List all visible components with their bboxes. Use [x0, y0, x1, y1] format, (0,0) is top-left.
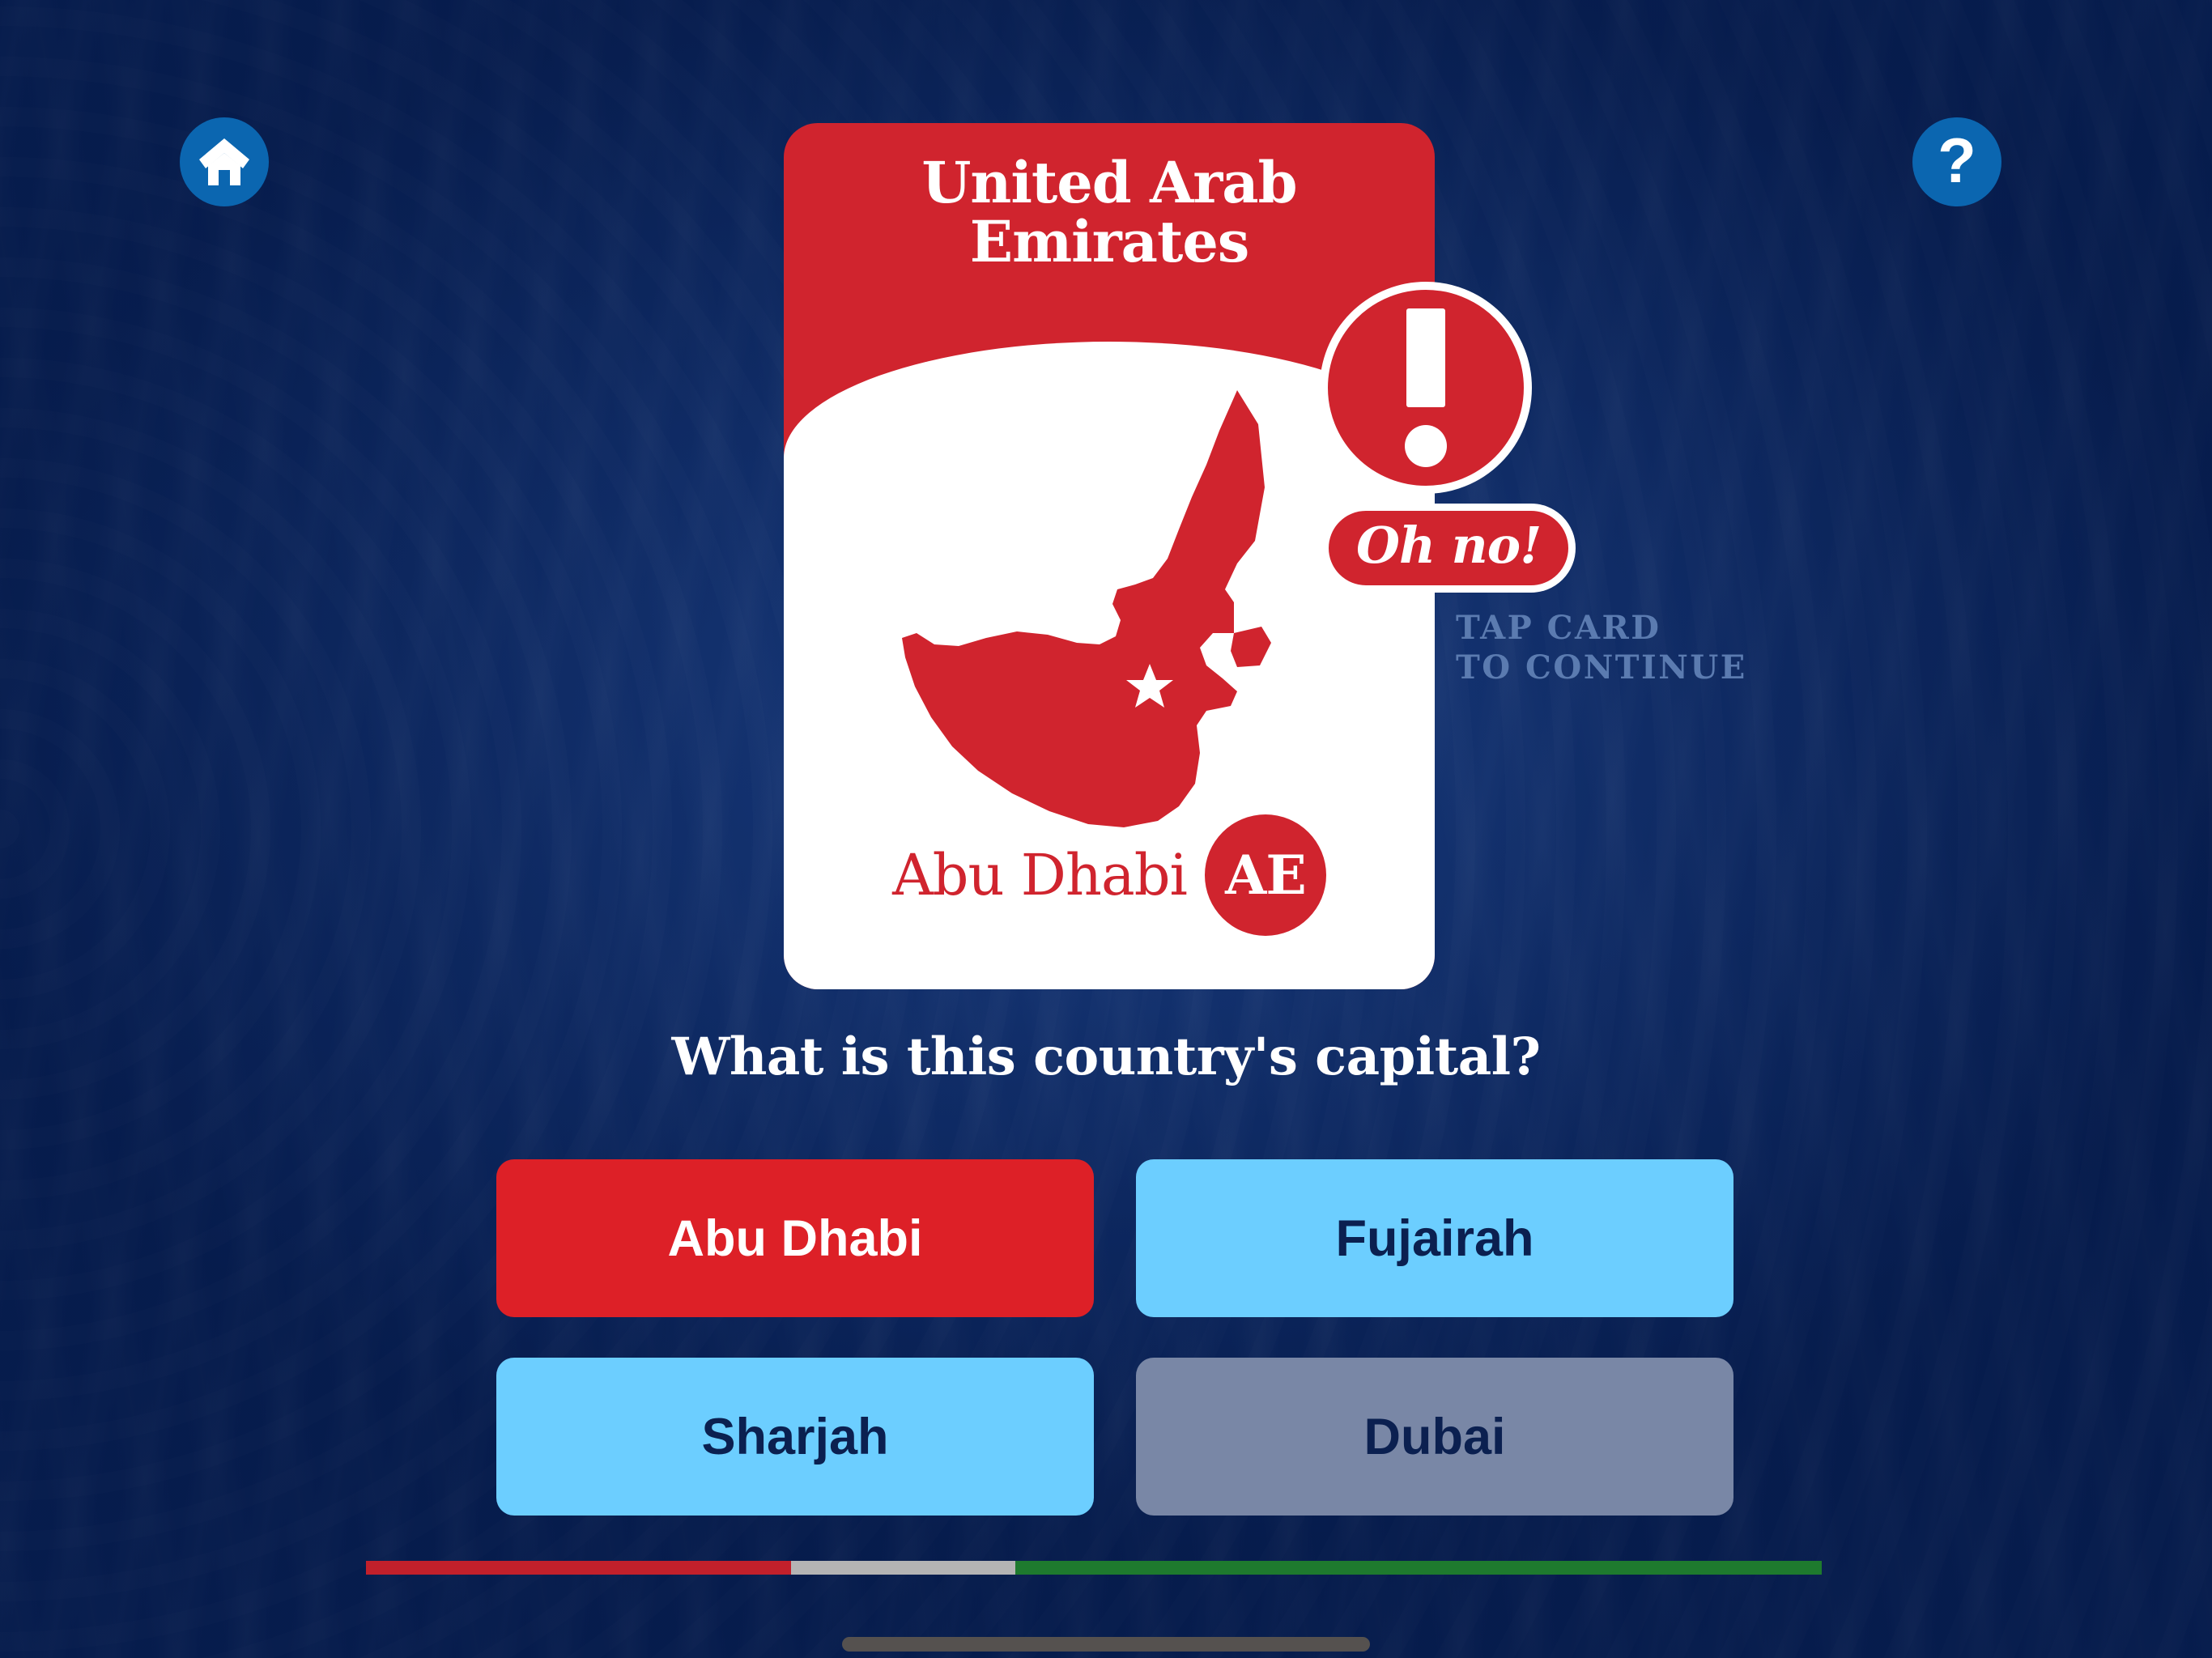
tap-card-hint-line1: TAP CARD	[1456, 609, 1747, 648]
status-badge: Oh no!	[1321, 504, 1576, 593]
answer-option-0[interactable]: Abu Dhabi	[496, 1159, 1094, 1317]
card-country-code-badge: AE	[1205, 814, 1326, 936]
progress-segment-remaining	[791, 1561, 1015, 1575]
tap-card-hint: TAP CARD TO CONTINUE	[1456, 609, 1747, 688]
card-country-title: United Arab Emirates	[784, 154, 1435, 272]
answer-option-1[interactable]: Fujairah	[1136, 1159, 1733, 1317]
answer-option-2[interactable]: Sharjah	[496, 1358, 1094, 1516]
quiz-question: What is this country's capital?	[0, 1027, 2212, 1087]
progress-segment-correct	[1015, 1561, 1822, 1575]
uae-map-outline	[857, 390, 1375, 844]
exclamation-mark-icon	[1320, 282, 1532, 494]
exclamation-dot	[1405, 425, 1447, 467]
card-country-title-line2: Emirates	[784, 213, 1435, 272]
home-icon	[198, 137, 251, 187]
uae-map	[857, 390, 1375, 844]
question-mark-icon: ?	[1938, 129, 1976, 192]
home-indicator-bar[interactable]	[842, 1637, 1370, 1652]
home-button[interactable]	[180, 117, 269, 206]
progress-segment-incorrect	[366, 1561, 791, 1575]
answer-option-3[interactable]: Dubai	[1136, 1358, 1733, 1516]
status-badge-label: Oh no!	[1356, 521, 1541, 571]
tap-card-hint-line2: TO CONTINUE	[1456, 648, 1747, 688]
card-capital-name: Abu Dhabi	[892, 847, 1187, 903]
quiz-progress-bar	[366, 1561, 1822, 1575]
help-button[interactable]: ?	[1912, 117, 2001, 206]
exclamation-bar	[1406, 308, 1445, 407]
card-capital-row: Abu Dhabi AE	[784, 814, 1435, 936]
answer-options: Abu Dhabi Fujairah Sharjah Dubai	[496, 1159, 1733, 1516]
card-country-title-line1: United Arab	[784, 154, 1435, 213]
